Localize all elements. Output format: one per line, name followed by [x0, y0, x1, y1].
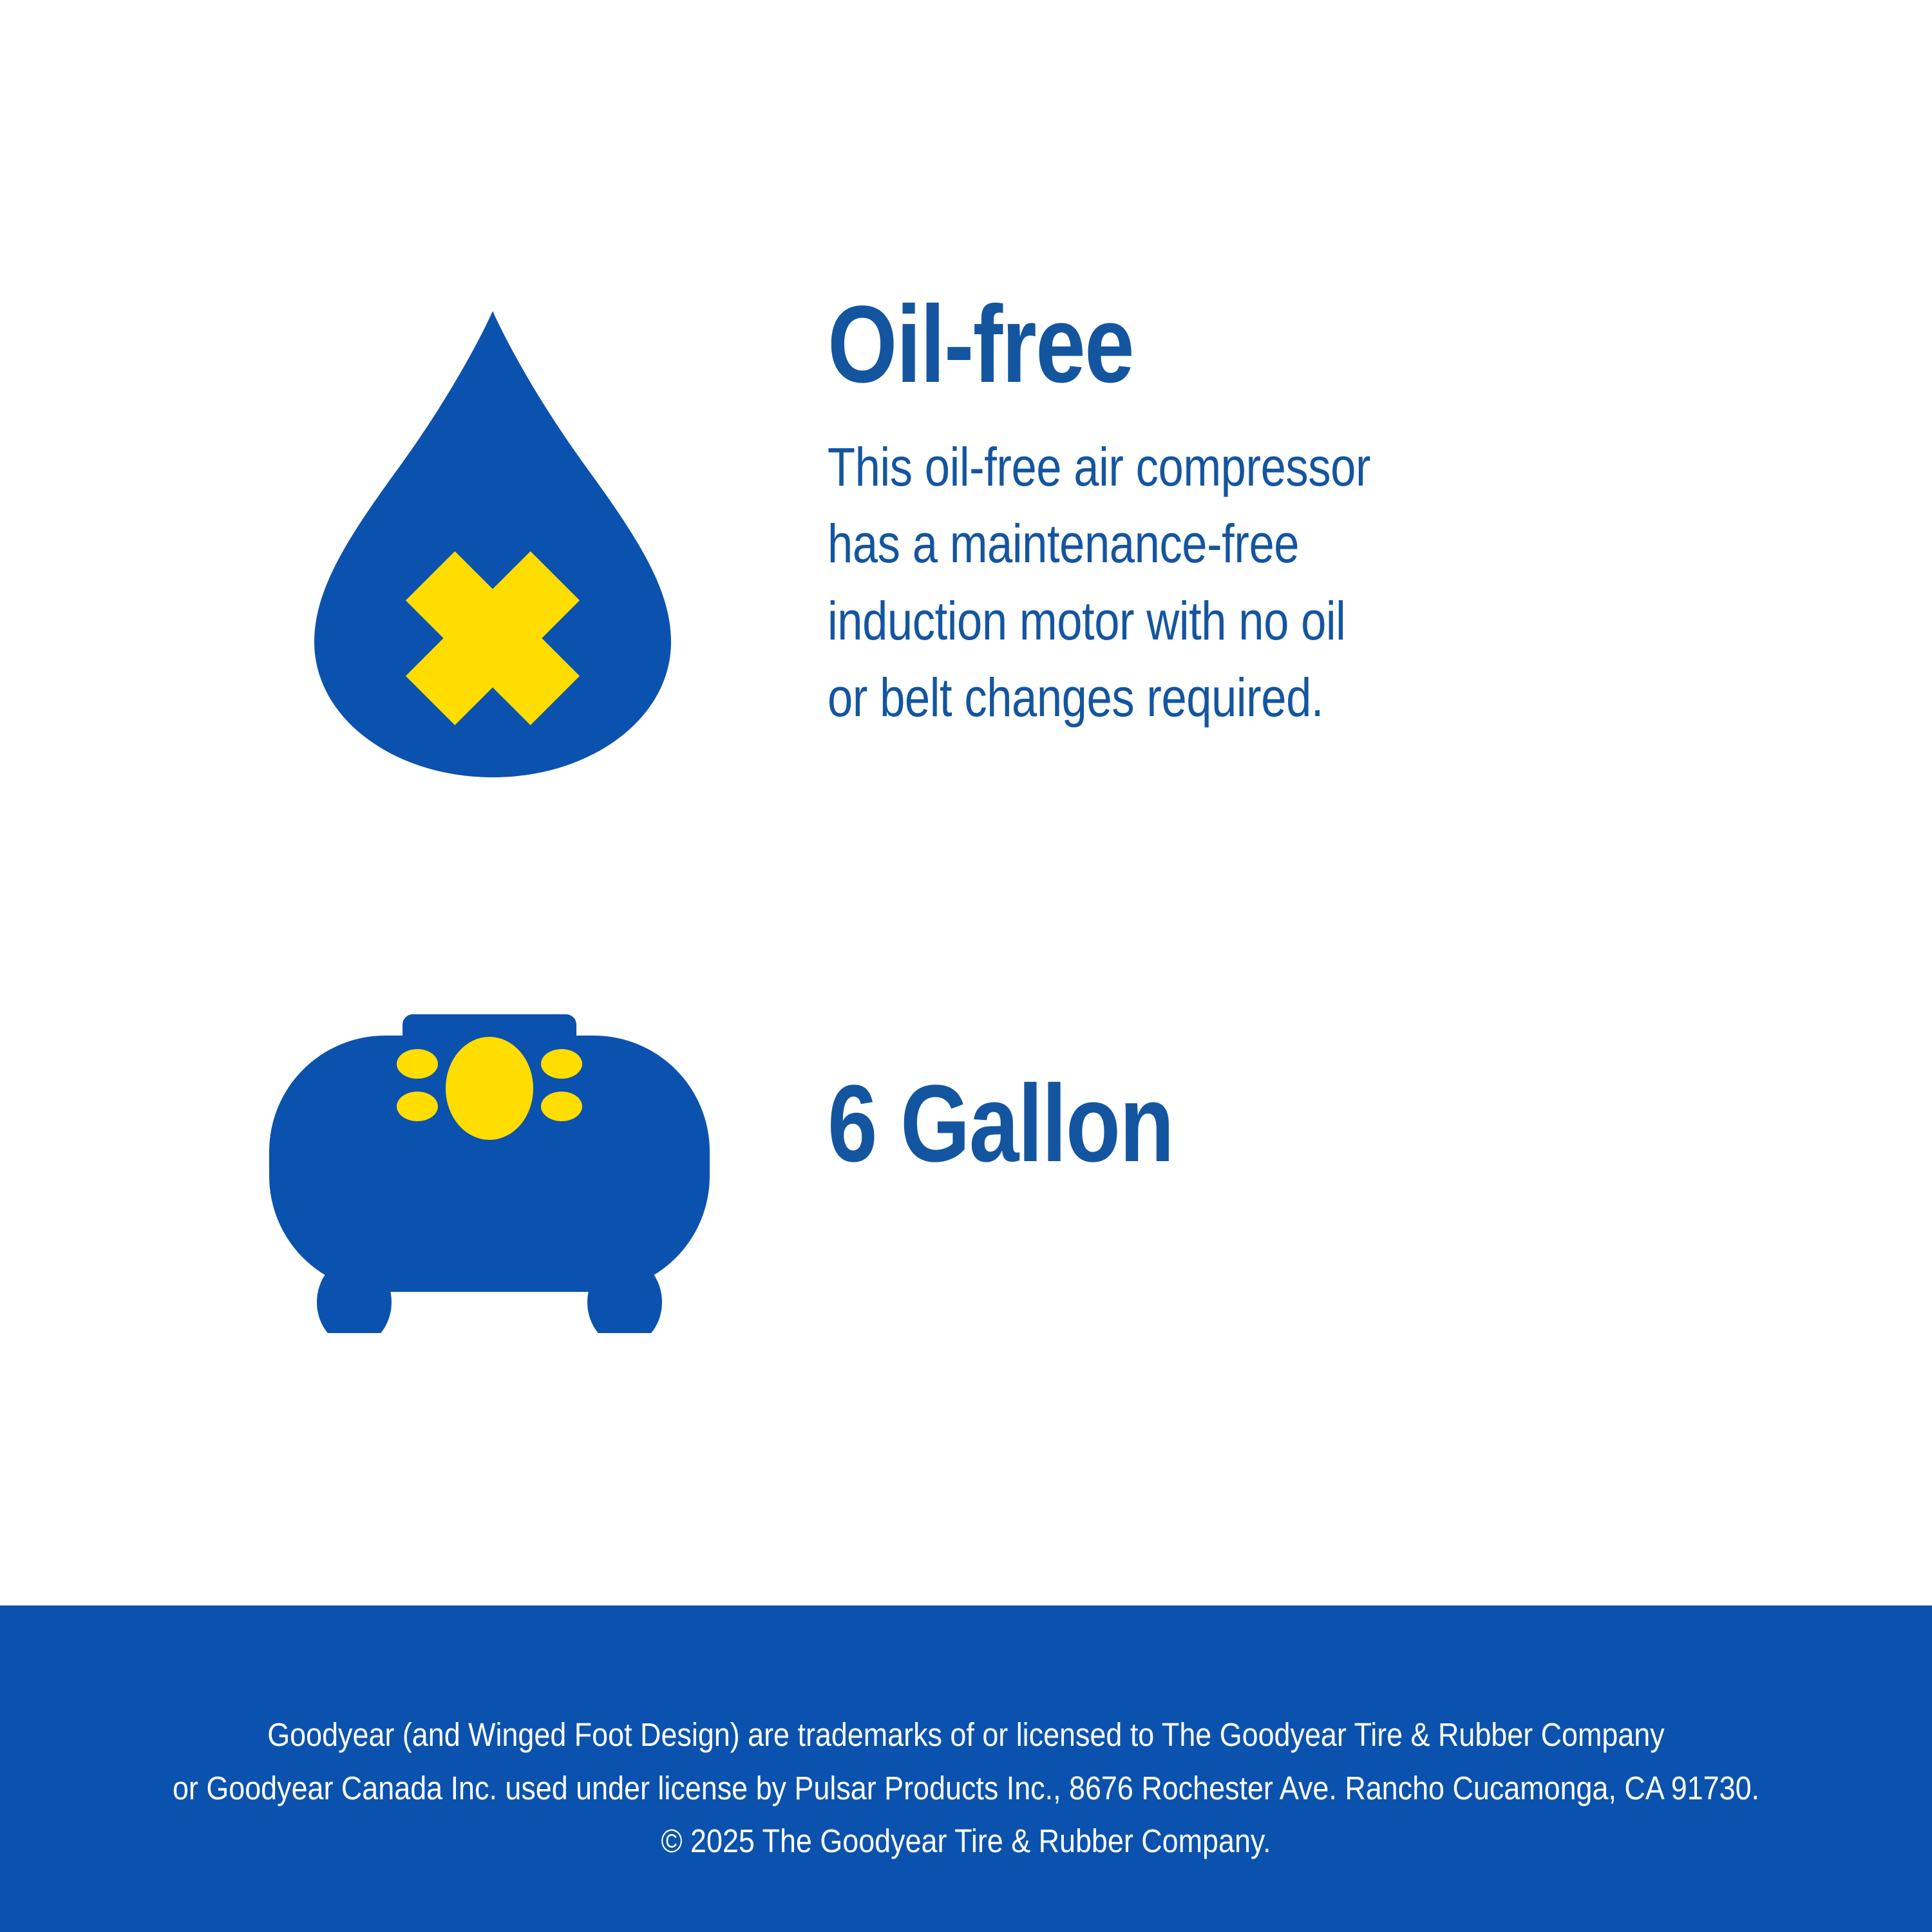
- compressor-vent-bottom-left: [397, 1092, 438, 1121]
- compressor-vent-top-right: [541, 1049, 582, 1079]
- product-feature-panel: Oil-free This oil-free air compressor ha…: [0, 0, 1932, 1932]
- oil-free-description: This oil-free air compressor has a maint…: [828, 399, 1390, 736]
- legal-line-trademark: Goodyear (and Winged Foot Design) are tr…: [116, 1709, 1816, 1762]
- air-compressor-tank-icon: [258, 1011, 721, 1333]
- compressor-vent-top-left: [397, 1049, 438, 1079]
- legal-footer: Goodyear (and Winged Foot Design) are tr…: [0, 1605, 1932, 1932]
- oil-free-icon-column: [0, 277, 828, 792]
- legal-line-copyright: © 2025 The Goodyear Tire & Rubber Compan…: [116, 1815, 1816, 1868]
- capacity-icon-column: [0, 992, 828, 1327]
- compressor-vent-bottom-right: [541, 1092, 582, 1121]
- capacity-text-column: 6 Gallon: [828, 992, 1932, 1179]
- feature-oil-free: Oil-free This oil-free air compressor ha…: [0, 277, 1932, 857]
- compressor-gauge: [446, 1037, 533, 1140]
- feature-capacity: 6 Gallon: [0, 992, 1932, 1352]
- oil-droplet-with-x-icon: [309, 306, 676, 782]
- legal-line-license: or Goodyear Canada Inc. used under licen…: [116, 1762, 1816, 1815]
- oil-free-text-column: Oil-free This oil-free air compressor ha…: [828, 277, 1932, 736]
- capacity-heading: 6 Gallon: [828, 992, 1733, 1179]
- oil-free-heading: Oil-free: [828, 277, 1733, 399]
